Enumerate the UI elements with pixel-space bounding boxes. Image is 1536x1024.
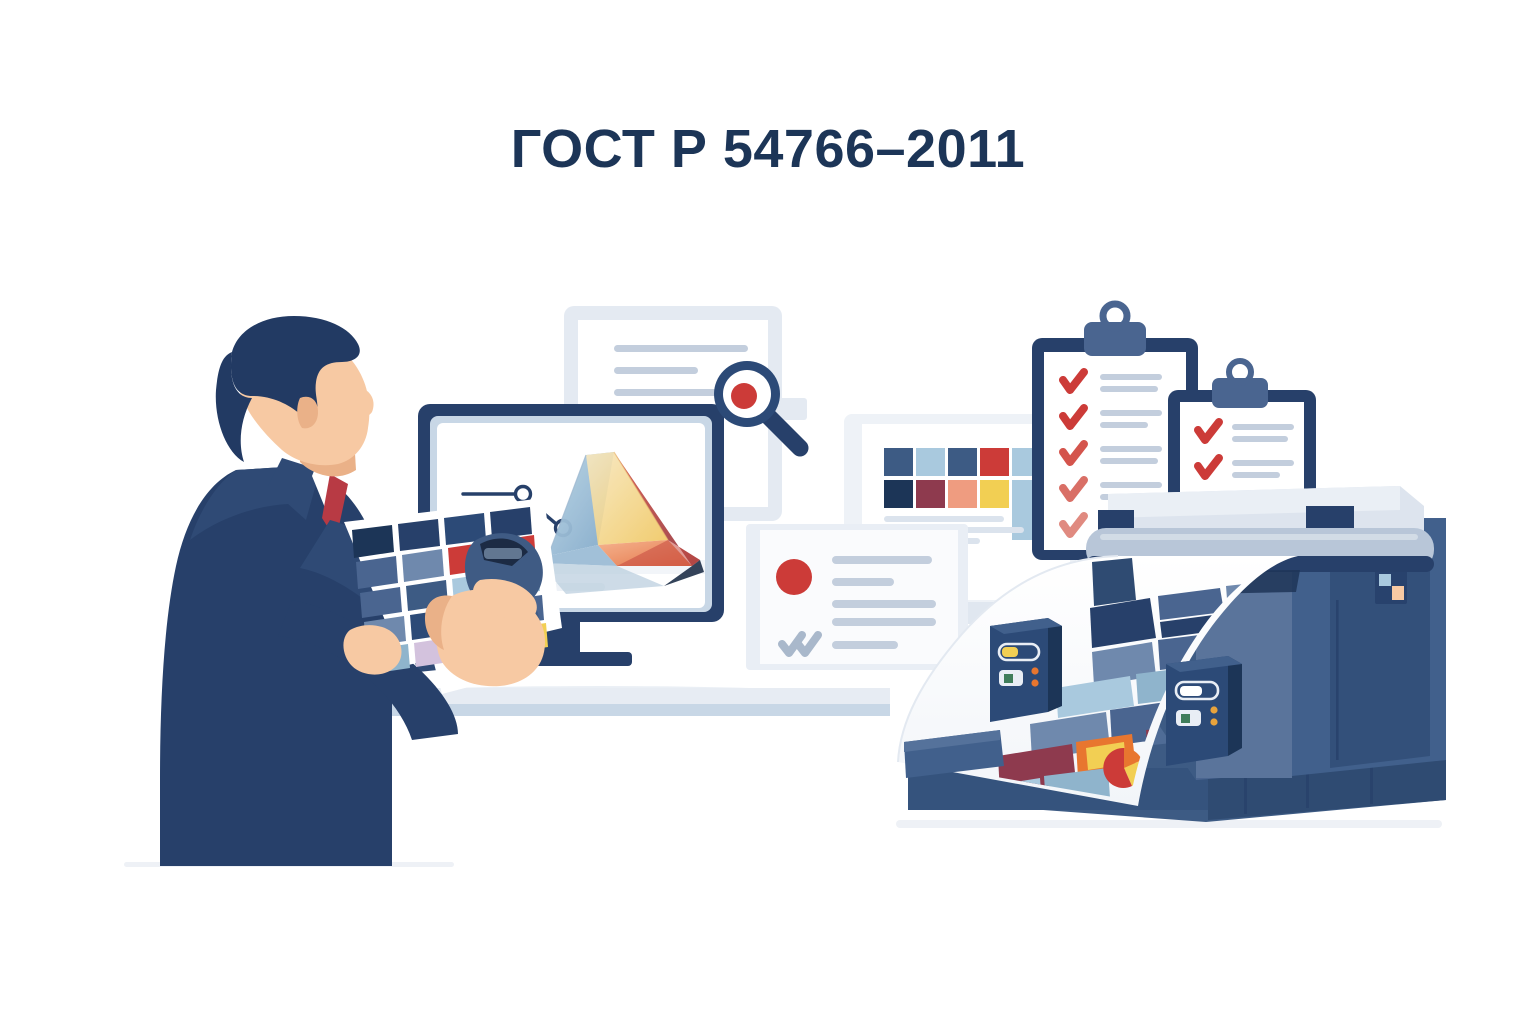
palette-swatch bbox=[916, 448, 945, 476]
ink-unit-dot bbox=[1210, 718, 1217, 725]
palette-swatch bbox=[884, 480, 913, 508]
ink-unit-dot bbox=[1210, 706, 1217, 713]
palette-swatch bbox=[884, 448, 913, 476]
press-left-shoulder bbox=[1092, 558, 1136, 606]
ink-unit-side bbox=[1228, 656, 1242, 756]
colorimeter-screen-glint bbox=[484, 548, 522, 559]
plot-node bbox=[516, 487, 531, 502]
palette-swatch bbox=[948, 480, 977, 508]
magnifier-sample-dot bbox=[731, 383, 757, 409]
ink-cartridge-unit-right[interactable] bbox=[1166, 656, 1242, 766]
ink-unit-level-indicator bbox=[1002, 647, 1018, 657]
color-management-illustration bbox=[0, 0, 1536, 1024]
proof-card-red-dot bbox=[776, 559, 812, 595]
ink-unit-status-light bbox=[1181, 714, 1190, 723]
ink-unit-dot bbox=[1031, 679, 1038, 686]
control-indicator[interactable] bbox=[1379, 574, 1391, 586]
palette-swatch bbox=[948, 448, 977, 476]
palette-swatch bbox=[980, 448, 1009, 476]
press-ground-shadow bbox=[896, 820, 1442, 828]
swatch bbox=[398, 519, 440, 551]
palette-swatch bbox=[980, 480, 1009, 508]
press-control-panel bbox=[1375, 570, 1407, 604]
press-roller-highlight bbox=[1100, 534, 1418, 540]
press-door-seam bbox=[1336, 600, 1339, 760]
ink-cartridge-unit-left[interactable] bbox=[990, 618, 1062, 722]
palette-swatch bbox=[916, 480, 945, 508]
illustration-canvas: ГОСТ Р 54766–2011 bbox=[0, 0, 1536, 1024]
proof-approval-card bbox=[746, 524, 968, 670]
control-indicator[interactable] bbox=[1392, 586, 1404, 600]
ink-unit-dot bbox=[1031, 667, 1038, 674]
ink-unit-side bbox=[1048, 618, 1062, 712]
ink-unit-status-light bbox=[1004, 674, 1013, 683]
ink-unit-level-indicator bbox=[1180, 686, 1202, 696]
